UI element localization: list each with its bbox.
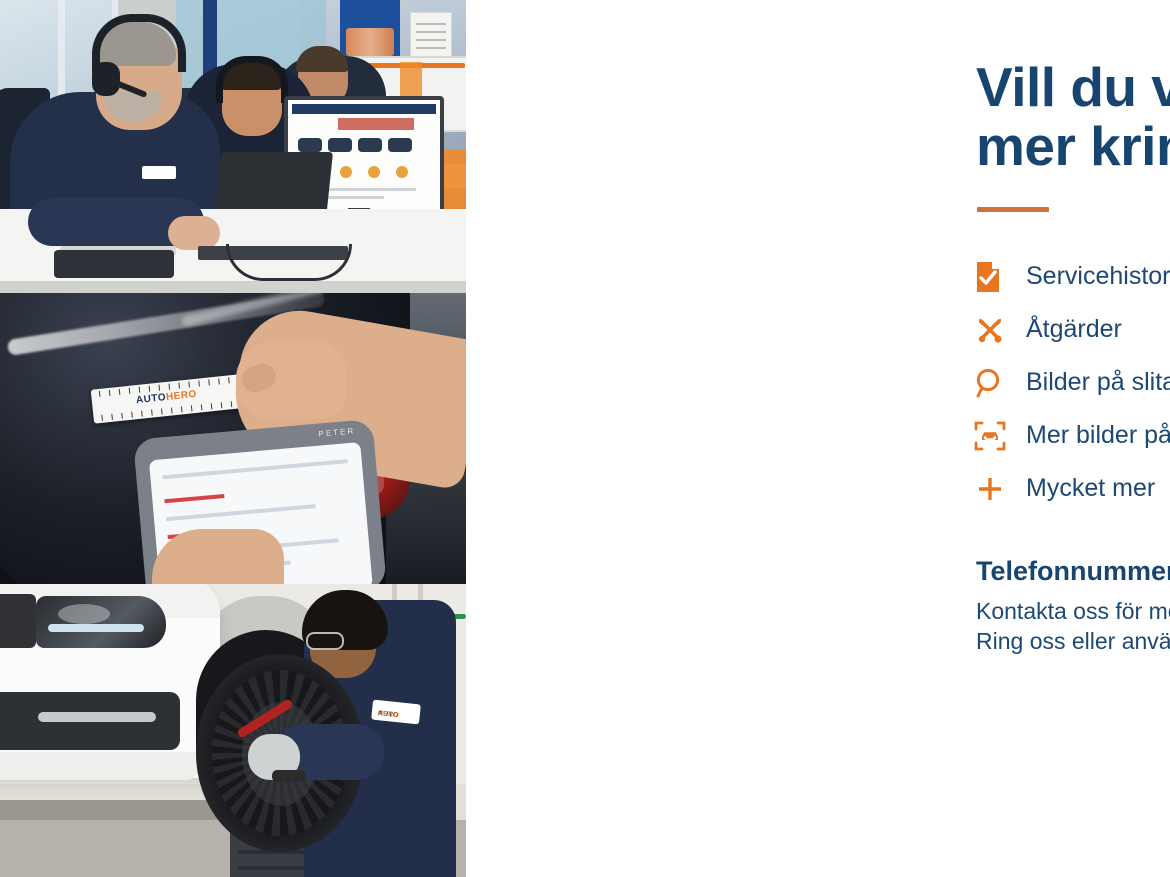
contact-line-1: Kontakta oss för mer information!: [976, 596, 1170, 626]
tablet-on-desk: [54, 250, 174, 278]
uniform-name-badge: [142, 166, 176, 179]
photo-tyre-change: AUTOHERO: [0, 584, 466, 877]
list-item-label: Mycket mer: [1026, 474, 1155, 503]
page-title: Vill du veta mer kring:: [976, 58, 1170, 177]
tablet-brand-text: PETER: [318, 426, 355, 438]
car-grille: [0, 594, 36, 648]
document-check-icon: [974, 261, 1026, 293]
car-headlight: [36, 596, 166, 648]
badge-brand-hero: HERO: [377, 710, 399, 719]
agent-one-hand: [168, 216, 220, 250]
phone-label: Telefonnummer:: [976, 556, 1170, 586]
list-item-label: Mer bilder på bilen: [1026, 421, 1170, 450]
photo-call-centre: [0, 0, 466, 293]
list-item-label: Servicehistoriken: [1026, 262, 1170, 291]
tools-cross-icon: [974, 314, 1026, 346]
plus-icon: [974, 473, 1026, 505]
desk-cable: [226, 244, 352, 281]
car-lower-panel: [0, 752, 200, 780]
agent-two-headset: [216, 56, 288, 103]
feature-list: Servicehistoriken Åtgärder: [974, 250, 1170, 515]
list-item-label: Åtgärder: [1026, 315, 1122, 344]
magnifier-icon: [974, 367, 1026, 399]
wall-poster: [340, 0, 400, 60]
desk-edge: [0, 281, 466, 293]
photo-column: AUTOHERO PETER: [0, 0, 466, 877]
car-bumper: [0, 692, 180, 750]
list-item-bilder-pa-slitage: Bilder på slitage: [974, 356, 1170, 409]
mechanic-glasses: [306, 632, 344, 650]
list-item-atgarder: Åtgärder: [974, 303, 1170, 356]
contact-line-2: Ring oss eller använd kontaktformuläret.: [976, 626, 1170, 656]
list-item-mycket-mer: Mycket mer: [974, 462, 1170, 515]
contact-block: Telefonnummer: +46812411432 Kontakta oss…: [976, 556, 1170, 657]
content-panel: Vill du veta mer kring: Servicehistorike…: [466, 0, 1170, 877]
mechanic-watch: [272, 770, 306, 782]
promo-poster: AUTOHERO PETER: [0, 0, 1170, 877]
car-scan-icon: [974, 420, 1026, 452]
photo-car-inspection: AUTOHERO PETER: [0, 293, 466, 584]
list-item-label: Bilder på slitage: [1026, 368, 1170, 397]
list-item-servicehistoriken: Servicehistoriken: [974, 250, 1170, 303]
page-title-line-1: Vill du veta: [976, 58, 1170, 117]
phone-line: Telefonnummer: +46812411432: [976, 556, 1170, 587]
page-title-line-2: mer kring:: [976, 117, 1170, 176]
title-underline-rule: [977, 207, 1049, 212]
ruler-brand-auto: AUTO: [135, 392, 166, 406]
ruler-brand-hero: HERO: [165, 389, 197, 403]
list-item-mer-bilder-pa-bilen: Mer bilder på bilen: [974, 409, 1170, 462]
